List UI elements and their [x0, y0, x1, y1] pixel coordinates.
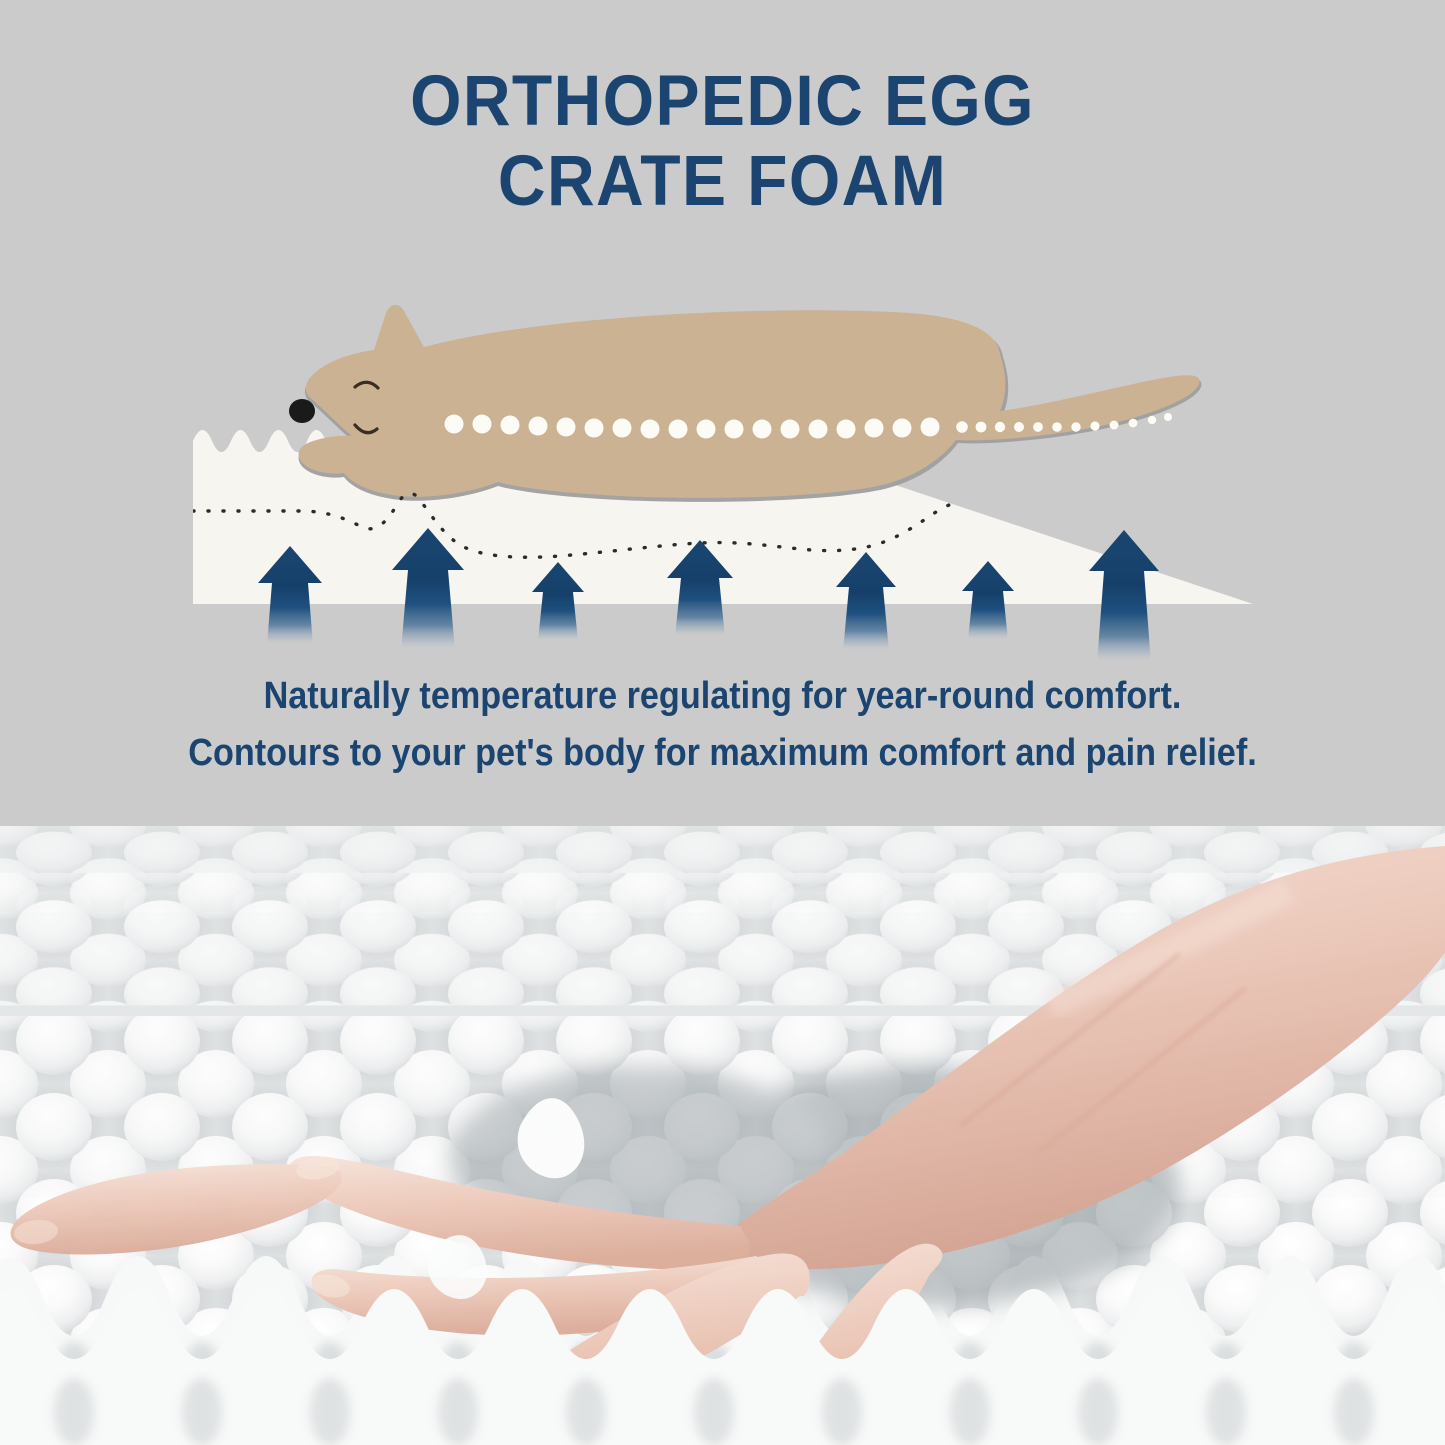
caption-line-1: Naturally temperature regulating for yea…	[72, 668, 1373, 725]
dog-on-foam-illustration	[0, 0, 1445, 680]
caption-line-2: Contours to your pet's body for maximum …	[72, 725, 1373, 782]
top-illustration-panel: ORTHOPEDIC EGG CRATE FOAM	[0, 0, 1445, 826]
sleeping-dog-silhouette	[289, 305, 1201, 502]
dog-nose	[289, 399, 315, 423]
hand-pressing-egg-crate-foam-photo	[0, 826, 1445, 1445]
caption: Naturally temperature regulating for yea…	[0, 668, 1445, 782]
product-infographic: ORTHOPEDIC EGG CRATE FOAM	[0, 0, 1445, 1445]
